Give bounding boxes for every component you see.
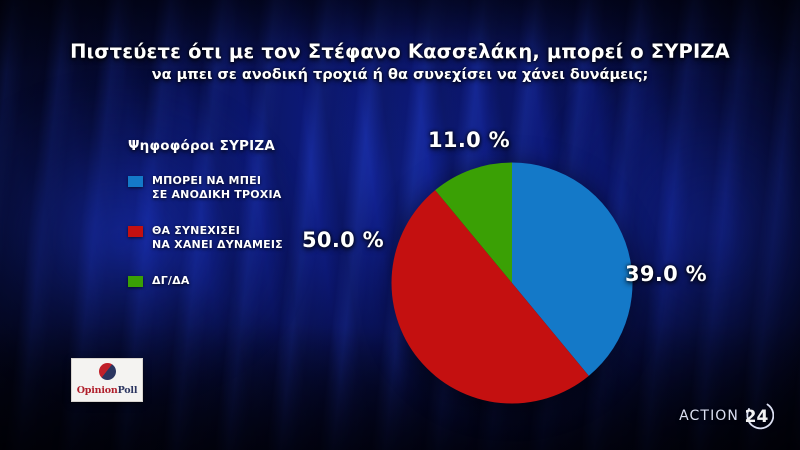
legend-swatch-red bbox=[128, 226, 143, 237]
pollster-logo-opinion-poll: OpinionPoll bbox=[71, 358, 143, 402]
channel-logo-arc-icon: 24 bbox=[740, 400, 774, 432]
opinion-poll-wordmark: OpinionPoll bbox=[72, 386, 142, 396]
channel-logo-action24: ACTION 24 bbox=[679, 400, 774, 432]
pie-value-tha-synechisei: 50.0 % bbox=[302, 228, 384, 252]
question-title: Πιστεύετε ότι με τον Στέφανο Κασσελάκη, … bbox=[0, 40, 800, 84]
opinion-poll-word-opinion: Opinion bbox=[77, 385, 118, 396]
question-title-line-2: να μπει σε ανοδική τροχιά ή θα συνεχίσει… bbox=[0, 67, 800, 84]
legend-item-mporei-na-mpei: ΜΠΟΡΕΙ ΝΑ ΜΠΕΙ ΣΕ ΑΝΟΔΙΚΗ ΤΡΟΧΙΑ bbox=[128, 174, 283, 202]
question-title-line-1: Πιστεύετε ότι με τον Στέφανο Κασσελάκη, … bbox=[0, 40, 800, 63]
channel-logo-word: ACTION bbox=[679, 408, 739, 424]
pie-value-mporei-na-mpei: 39.0 % bbox=[625, 262, 707, 286]
channel-logo-24-mark: 24 bbox=[740, 400, 774, 432]
broadcast-poll-graphic: Πιστεύετε ότι με τον Στέφανο Κασσελάκη, … bbox=[0, 0, 800, 450]
legend-heading: Ψηφοφόροι ΣΥΡΙΖΑ bbox=[128, 138, 283, 154]
legend-label-dg-da: ΔΓ/ΔΑ bbox=[152, 274, 190, 288]
legend-item-tha-synechisei: ΘΑ ΣΥΝΕΧΙΣΕΙ ΝΑ ΧΑΝΕΙ ΔΥΝΑΜΕΙΣ bbox=[128, 224, 283, 252]
legend: Ψηφοφόροι ΣΥΡΙΖΑ ΜΠΟΡΕΙ ΝΑ ΜΠΕΙ ΣΕ ΑΝΟΔΙ… bbox=[128, 138, 283, 310]
pie-chart-svg bbox=[391, 162, 633, 404]
legend-label-mporei-na-mpei: ΜΠΟΡΕΙ ΝΑ ΜΠΕΙ ΣΕ ΑΝΟΔΙΚΗ ΤΡΟΧΙΑ bbox=[152, 174, 282, 202]
legend-item-dg-da: ΔΓ/ΔΑ bbox=[128, 274, 283, 288]
svg-text:24: 24 bbox=[745, 407, 769, 427]
legend-swatch-blue bbox=[128, 176, 143, 187]
pie-chart bbox=[391, 162, 633, 404]
opinion-poll-word-poll: Poll bbox=[118, 385, 138, 396]
legend-label-tha-synechisei: ΘΑ ΣΥΝΕΧΙΣΕΙ ΝΑ ΧΑΝΕΙ ΔΥΝΑΜΕΙΣ bbox=[152, 224, 283, 252]
pie-value-dg-da: 11.0 % bbox=[428, 128, 510, 152]
legend-swatch-green bbox=[128, 276, 143, 287]
opinion-poll-circle-icon bbox=[99, 363, 116, 380]
